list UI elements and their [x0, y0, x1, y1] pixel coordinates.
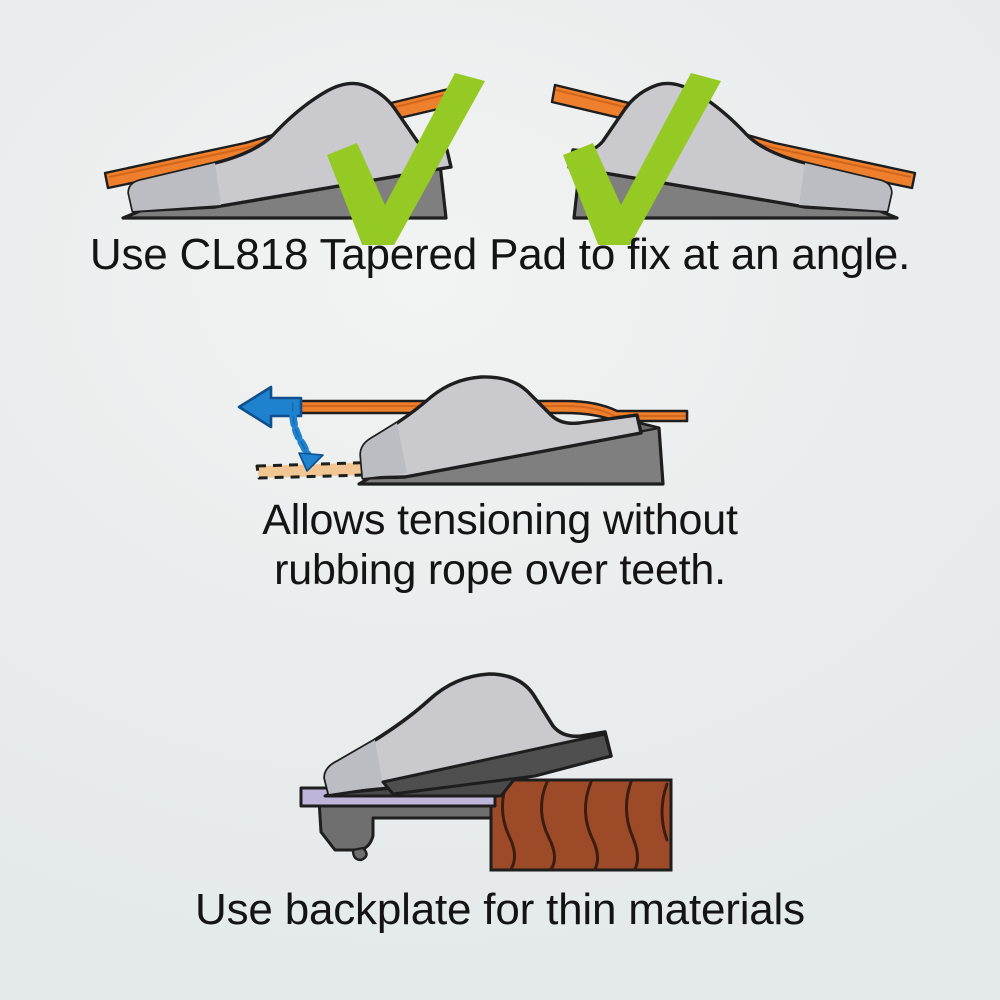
panel-middle — [0, 365, 1000, 490]
panel-top — [0, 40, 1000, 230]
caption-tensioning: Allows tensioning without rubbing rope o… — [0, 496, 1000, 596]
panel-bottom — [0, 660, 1000, 880]
cleat-base — [319, 800, 491, 860]
caption-tapered-pad: Use CL818 Tapered Pad to fix at an angle… — [0, 229, 1000, 280]
cleat-body — [325, 674, 611, 794]
instruction-sheet: Use CL818 Tapered Pad to fix at an angle… — [0, 0, 1000, 1000]
caption-backplate: Use backplate for thin materials — [0, 884, 1000, 935]
figure-backplate — [295, 660, 715, 880]
figure-tensioning — [235, 365, 695, 490]
wood-block — [491, 780, 671, 870]
figure-cleat-right-taper — [505, 55, 925, 245]
figure-cleat-left-taper — [95, 55, 515, 245]
